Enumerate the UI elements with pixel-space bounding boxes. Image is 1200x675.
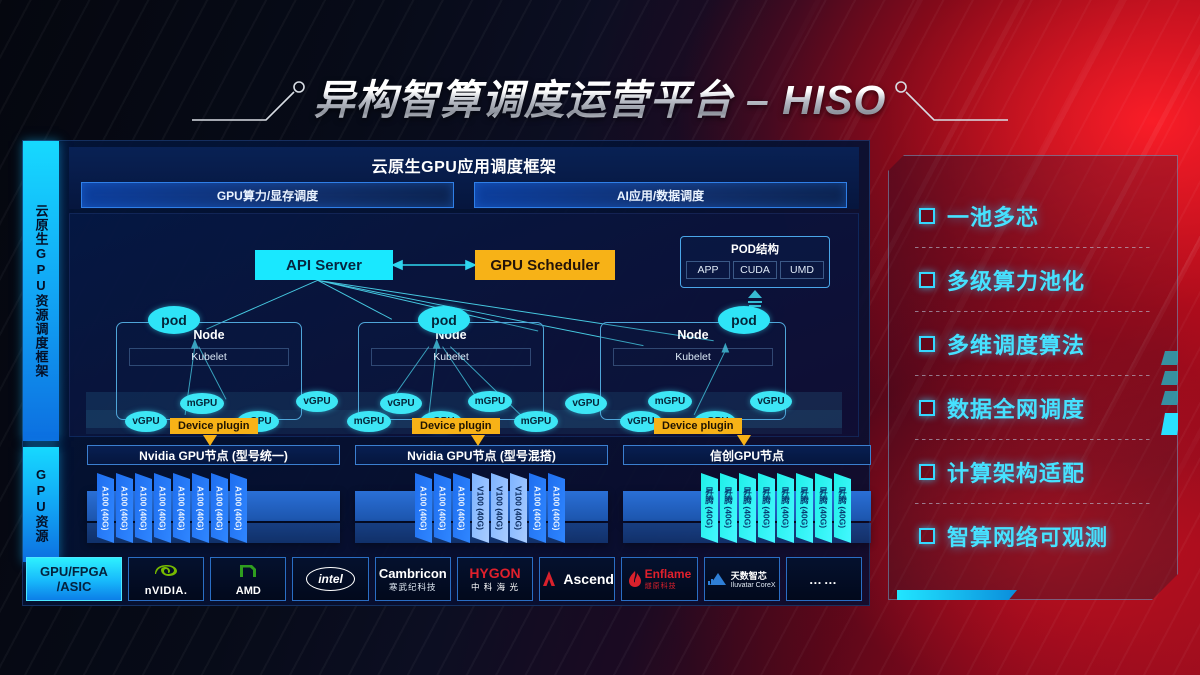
gpu-card[interactable]: A100 (40G) [453, 473, 470, 543]
gpu-group-title-1: Nvidia GPU节点 (型号统一) [87, 445, 340, 465]
gpu-card-label: A100 (40G) [438, 486, 448, 530]
feature-label: 一池多芯 [947, 200, 1039, 232]
iluvatar-icon [708, 571, 728, 588]
gpu-card-stack-1: A100 (40G) A100 (40G) A100 (40G) A100 (4… [97, 473, 247, 543]
vendor-category-text: GPU/FPGA /ASIC [40, 564, 108, 594]
vendor-logo-hygon[interactable]: HYGON 中 科 海 光 [457, 557, 533, 601]
gpu-card-label: A100 (40G) [215, 486, 225, 530]
gpu-card-label: 昇腾 (40G) [799, 487, 811, 528]
vendor-sub-iluvatar: Iluvatar CoreX [731, 582, 776, 589]
gpu-card-label: A100 (40G) [457, 486, 467, 530]
nvidia-icon [151, 562, 181, 579]
enflame-flame-icon [628, 570, 642, 588]
framework-body: API Server GPU Scheduler POD结构 APP CUDA … [69, 213, 859, 437]
kubelet-3: Kubelet [613, 348, 773, 366]
amd-icon [238, 562, 258, 579]
vendor-logo-nvidia[interactable]: nVIDIA. [128, 557, 204, 601]
vendor-logo-bar: GPU/FPGA /ASIC nVIDIA. AMD intel [26, 557, 862, 601]
ascend-icon [540, 570, 558, 588]
vendor-name-more: …… [809, 572, 839, 587]
gpu-card[interactable]: A100 (40G) [548, 473, 565, 543]
vendor-name-enflame: Enflame [645, 567, 692, 581]
checkbox-icon [919, 208, 935, 224]
pod-ellipse-3[interactable]: pod [718, 306, 770, 334]
gpu-card-label: A100 (40G) [139, 486, 149, 530]
gpu-card[interactable]: 昇腾 (40G) [815, 473, 832, 543]
gpu-card[interactable]: 昇腾 (40G) [701, 473, 718, 543]
checkbox-icon [919, 400, 935, 416]
title-decoration-left-icon [190, 58, 310, 134]
framework-area: 云原生GPU应用调度框架 GPU算力/显存调度 AI应用/数据调度 [59, 141, 869, 441]
gpu-card-stack-2: A100 (40G) A100 (40G) A100 (40G) V100 (4… [415, 473, 565, 543]
checkbox-icon [919, 272, 935, 288]
gpu-card[interactable]: A100 (40G) [154, 473, 171, 543]
gpu-card[interactable]: 昇腾 (40G) [796, 473, 813, 543]
vendor-name-amd: AMD [236, 585, 261, 597]
node-title-1: Node [117, 328, 301, 342]
vendor-logo-ascend[interactable]: Ascend [539, 557, 615, 601]
feature-label: 计算架构适配 [947, 456, 1085, 488]
gpu-card-label: A100 (40G) [196, 486, 206, 530]
feature-label: 多级算力池化 [947, 264, 1085, 296]
pod-cell-umd: UMD [780, 261, 824, 279]
gpu-card[interactable]: A100 (40G) [173, 473, 190, 543]
architecture-panel: 云原生GPU资源调度框架 GPU资源 云原生GPU应用调度框架 GPU算力/显存… [22, 140, 870, 606]
vendor-sub-enflame: 燧原科技 [645, 581, 692, 591]
gpu-card-label: 昇腾 (40G) [818, 487, 830, 528]
feature-item-5[interactable]: 计算架构适配 [889, 440, 1177, 504]
slide-canvas: 异构智算调度运营平台 – HISO 云原生GPU资源调度框架 GPU资源 云原生… [0, 0, 1200, 675]
gpu-card[interactable]: V100 (40G) [510, 473, 527, 543]
subbar-ai-data[interactable]: AI应用/数据调度 [474, 182, 847, 208]
checkbox-icon [919, 464, 935, 480]
mgpu-pill[interactable]: mGPU [180, 393, 224, 414]
device-plugin-1[interactable]: Device plugin [170, 418, 258, 434]
pod-structure-cells: APP CUDA UMD [681, 261, 829, 279]
feature-label: 数据全网调度 [947, 392, 1085, 424]
device-plugin-3[interactable]: Device plugin [654, 418, 742, 434]
gpu-group-body-2: A100 (40G) A100 (40G) A100 (40G) V100 (4… [355, 469, 608, 547]
mgpu-pill[interactable]: mGPU [648, 391, 692, 412]
vendor-sub-cambricon: 寒武纪科技 [379, 581, 447, 593]
gpu-card[interactable]: 昇腾 (40G) [739, 473, 756, 543]
features-panel: 一池多芯 多级算力池化 多维调度算法 数据全网调度 计算架构适配 智算网络可观测 [888, 155, 1178, 600]
vendor-logo-iluvatar[interactable]: 天数智芯 Iluvatar CoreX [704, 557, 780, 601]
gpu-card[interactable]: A100 (40G) [415, 473, 432, 543]
gpu-card[interactable]: V100 (40G) [472, 473, 489, 543]
down-arrow-icon [737, 433, 751, 447]
down-arrow-icon [203, 433, 217, 447]
vendor-name-hygon: HYGON [469, 565, 520, 581]
down-arrow-icon [471, 433, 485, 447]
gpu-card-label: A100 (40G) [120, 486, 130, 530]
gpu-node-group-2: Nvidia GPU节点 (型号混搭) A100 (40G) A100 (40G… [355, 445, 608, 545]
pod-ellipse-2[interactable]: pod [418, 306, 470, 334]
vendor-logo-cambricon[interactable]: Cambricon 寒武纪科技 [375, 557, 451, 601]
features-list: 一池多芯 多级算力池化 多维调度算法 数据全网调度 计算架构适配 智算网络可观测 [889, 156, 1177, 599]
gpu-card-label: A100 (40G) [158, 486, 168, 530]
vendor-sub-hygon: 中 科 海 光 [469, 581, 520, 593]
kubelet-1: Kubelet [129, 348, 289, 366]
vendor-logo-more[interactable]: …… [786, 557, 862, 601]
pod-ellipse-1[interactable]: pod [148, 306, 200, 334]
gpu-group-body-1: A100 (40G) A100 (40G) A100 (40G) A100 (4… [87, 469, 340, 547]
gpu-card-label: 昇腾 (40G) [837, 487, 849, 528]
vtab-resource-label: GPU资源 [23, 447, 59, 562]
feature-label: 智算网络可观测 [947, 520, 1108, 552]
feature-item-2[interactable]: 多级算力池化 [889, 248, 1177, 312]
vgpu-pill[interactable]: vGPU [565, 393, 607, 414]
gpu-card[interactable]: A100 (40G) [192, 473, 209, 543]
feature-item-1[interactable]: 一池多芯 [889, 184, 1177, 248]
page-title: 异构智算调度运营平台 – HISO [314, 66, 887, 126]
pod-structure-title: POD结构 [681, 241, 829, 257]
feature-item-6[interactable]: 智算网络可观测 [889, 504, 1177, 568]
title-bar: 异构智算调度运营平台 – HISO [0, 58, 1200, 134]
gpu-card-label: A100 (40G) [101, 486, 111, 530]
kubelet-2: Kubelet [371, 348, 531, 366]
vendor-category-label: GPU/FPGA /ASIC [26, 557, 122, 601]
title-decoration-right-icon [890, 58, 1010, 134]
framework-header: 云原生GPU应用调度框架 GPU算力/显存调度 AI应用/数据调度 [69, 147, 859, 209]
gpu-card-label: 昇腾 (40G) [723, 487, 735, 528]
pod-cell-cuda: CUDA [733, 261, 777, 279]
gpu-card[interactable]: A100 (40G) [97, 473, 114, 543]
mgpu-pill[interactable]: mGPU [468, 391, 512, 412]
gpu-card-label: A100 (40G) [552, 486, 562, 530]
vtab-framework-label: 云原生GPU资源调度框架 [23, 141, 59, 441]
gpu-card[interactable]: A100 (40G) [135, 473, 152, 543]
gpu-card[interactable]: 昇腾 (40G) [720, 473, 737, 543]
vgpu-pill[interactable]: vGPU [296, 391, 338, 412]
vendor-name-intel: intel [318, 572, 343, 586]
vendor-name-nvidia: nVIDIA. [145, 585, 188, 597]
gpu-card[interactable]: A100 (40G) [116, 473, 133, 543]
pod-structure-box: POD结构 APP CUDA UMD [680, 236, 830, 288]
gpu-card-label: A100 (40G) [419, 486, 429, 530]
gpu-card[interactable]: V100 (40G) [491, 473, 508, 543]
vendor-name-ascend: Ascend [563, 571, 614, 587]
gpu-card-label: A100 (40G) [177, 486, 187, 530]
pod-cell-app: APP [686, 261, 730, 279]
mgpu-pill[interactable]: mGPU [514, 411, 558, 432]
gpu-group-body-3: 昇腾 (40G) 昇腾 (40G) 昇腾 (40G) 昇腾 (40G) 昇腾 (… [623, 469, 871, 547]
framework-title: 云原生GPU应用调度框架 [69, 147, 859, 177]
vgpu-pill[interactable]: vGPU [125, 411, 167, 432]
gpu-card[interactable]: 昇腾 (40G) [777, 473, 794, 543]
api-scheduler-arrow-icon [393, 259, 475, 271]
feature-label: 多维调度算法 [947, 328, 1085, 360]
gpu-card-label: V100 (40G) [495, 486, 505, 530]
gpu-card-label: A100 (40G) [533, 486, 543, 530]
gpu-card[interactable]: 昇腾 (40G) [834, 473, 851, 543]
gpu-node-group-3: 信创GPU节点 昇腾 (40G) 昇腾 (40G) 昇腾 (40G) 昇腾 (4… [623, 445, 871, 545]
gpu-card[interactable]: A100 (40G) [211, 473, 228, 543]
subbar-gpu-compute[interactable]: GPU算力/显存调度 [81, 182, 454, 208]
vendor-logo-enflame[interactable]: Enflame 燧原科技 [621, 557, 697, 601]
gpu-group-title-3: 信创GPU节点 [623, 445, 871, 465]
gpu-card-label: 昇腾 (40G) [704, 487, 716, 528]
gpu-card-label: V100 (40G) [476, 486, 486, 530]
vendor-name-iluvatar: 天数智芯 [731, 569, 776, 582]
gpu-card[interactable]: 昇腾 (40G) [758, 473, 775, 543]
gpu-card-label: V100 (40G) [514, 486, 524, 530]
vendor-name-cambricon: Cambricon [379, 566, 447, 581]
gpu-card-label: 昇腾 (40G) [742, 487, 754, 528]
gpu-card[interactable]: A100 (40G) [230, 473, 247, 543]
gpu-card-label: A100 (40G) [234, 486, 244, 530]
api-server-box[interactable]: API Server [255, 250, 393, 280]
gpu-node-group-1: Nvidia GPU节点 (型号统一) A100 (40G) A100 (40G… [87, 445, 340, 545]
gpu-card[interactable]: A100 (40G) [434, 473, 451, 543]
gpu-card[interactable]: A100 (40G) [529, 473, 546, 543]
vendor-logo-intel[interactable]: intel [292, 557, 368, 601]
gpu-scheduler-box[interactable]: GPU Scheduler [475, 250, 615, 280]
gpu-card-stack-3: 昇腾 (40G) 昇腾 (40G) 昇腾 (40G) 昇腾 (40G) 昇腾 (… [701, 473, 851, 543]
feature-item-3[interactable]: 多维调度算法 [889, 312, 1177, 376]
feature-item-4[interactable]: 数据全网调度 [889, 376, 1177, 440]
vgpu-pill[interactable]: vGPU [380, 393, 422, 414]
framework-subbar-row: GPU算力/显存调度 AI应用/数据调度 [69, 177, 859, 208]
device-plugin-2[interactable]: Device plugin [412, 418, 500, 434]
gpu-card-label: 昇腾 (40G) [780, 487, 792, 528]
checkbox-icon [919, 528, 935, 544]
vendor-logo-amd[interactable]: AMD [210, 557, 286, 601]
vgpu-pill[interactable]: vGPU [750, 391, 792, 412]
gpu-card-label: 昇腾 (40G) [761, 487, 773, 528]
checkbox-icon [919, 336, 935, 352]
mgpu-pill[interactable]: mGPU [347, 411, 391, 432]
gpu-group-title-2: Nvidia GPU节点 (型号混搭) [355, 445, 608, 465]
